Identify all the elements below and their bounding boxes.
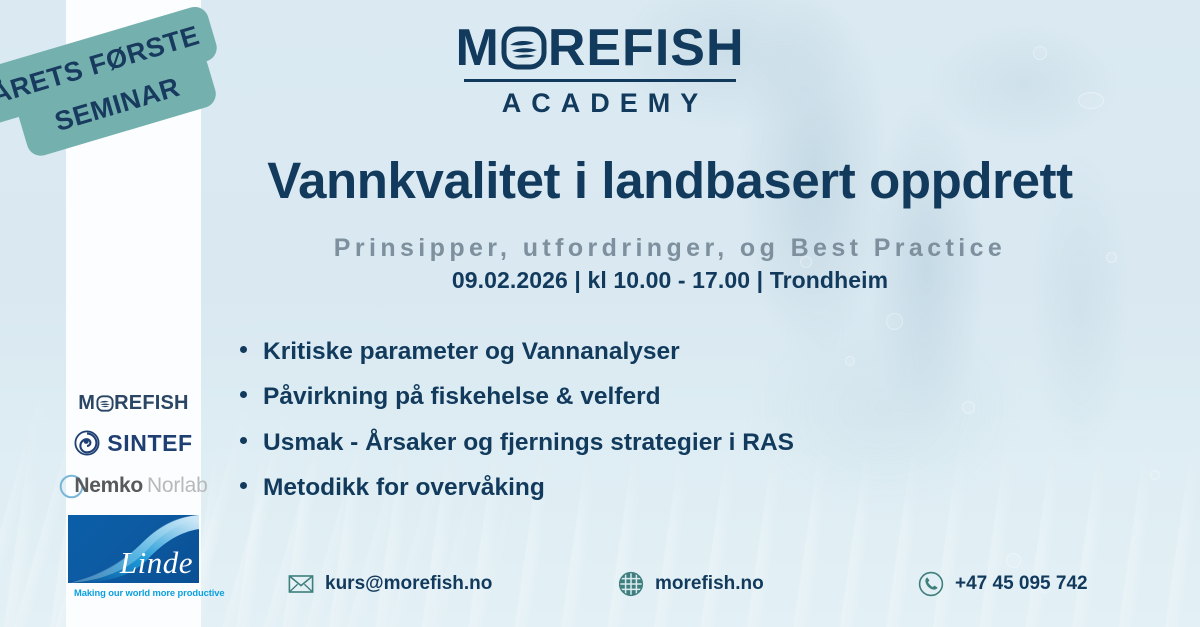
sintef-spiral-icon bbox=[74, 430, 100, 456]
sponsor-nemko-label: Nemko bbox=[74, 474, 143, 498]
list-item-label: Metodikk for overvåking bbox=[263, 474, 545, 501]
sponsor-norlab-label: Norlab bbox=[147, 474, 208, 498]
list-item-label: Kritiske parameter og Vannanalyser bbox=[263, 338, 680, 365]
contact-website-label: morefish.no bbox=[655, 573, 764, 595]
brand-logo: M REFISH ACADEMY bbox=[0, 22, 1200, 119]
list-item-label: Usmak - Årsaker og fjernings strategier … bbox=[263, 429, 794, 456]
list-item: Metodikk for overvåking bbox=[240, 474, 794, 501]
brand-subtitle: ACADEMY bbox=[492, 88, 709, 119]
list-item: Kritiske parameter og Vannanalyser bbox=[240, 338, 794, 365]
bubble-icon bbox=[845, 356, 855, 366]
contact-email-label: kurs@morefish.no bbox=[325, 573, 492, 595]
bullet-dot-icon bbox=[240, 437, 247, 444]
bubble-icon bbox=[886, 313, 903, 330]
list-item: Usmak - Årsaker og fjernings strategier … bbox=[240, 429, 794, 456]
sponsor-sintef-label: SINTEF bbox=[107, 430, 192, 457]
event-date-time-location: 09.02.2026 | kl 10.00 - 17.00 | Trondhei… bbox=[200, 267, 1140, 294]
contact-phone-label: +47 45 095 742 bbox=[955, 573, 1088, 595]
list-item-label: Påvirkning på fiskehelse & velferd bbox=[263, 383, 661, 410]
brand-name-part2: REFISH bbox=[548, 22, 745, 74]
brand-wordmark: M REFISH bbox=[455, 22, 744, 74]
contact-email[interactable]: kurs@morefish.no bbox=[288, 571, 492, 597]
sponsor-morefish-part2: REFISH bbox=[114, 392, 189, 415]
sponsor-logo-sintef: SINTEF bbox=[74, 426, 192, 460]
contact-phone[interactable]: +47 45 095 742 bbox=[918, 571, 1088, 597]
brand-name-part1: M bbox=[455, 22, 499, 74]
topics-list: Kritiske parameter og Vannanalyser Påvir… bbox=[240, 338, 794, 520]
sponsor-logo-nemko-norlab: Nemko Norlab bbox=[59, 469, 207, 503]
fish-in-o-icon bbox=[501, 23, 547, 73]
sponsor-morefish-part1: M bbox=[78, 392, 95, 415]
envelope-icon bbox=[288, 571, 314, 597]
bullet-dot-icon bbox=[240, 346, 247, 353]
page-subtitle: Prinsipper, utfordringer, og Best Practi… bbox=[200, 233, 1140, 263]
list-item: Påvirkning på fiskehelse & velferd bbox=[240, 383, 794, 410]
page-title: Vannkvalitet i landbasert oppdrett bbox=[200, 153, 1140, 208]
phone-icon bbox=[918, 571, 944, 597]
fish-in-o-icon bbox=[96, 394, 114, 413]
footer-contacts: kurs@morefish.no morefish.no bbox=[0, 571, 1200, 605]
sponsor-logos: M REFISH SINTEF bbox=[66, 388, 201, 601]
sponsor-logo-morefish: M REFISH bbox=[78, 388, 188, 418]
bullet-dot-icon bbox=[240, 391, 247, 398]
bullet-dot-icon bbox=[240, 482, 247, 489]
bubble-icon bbox=[962, 401, 975, 414]
bubble-icon bbox=[1006, 553, 1021, 568]
brand-divider bbox=[464, 79, 736, 82]
bubble-icon bbox=[1150, 470, 1160, 480]
seminar-poster: ÅRETS FØRSTE SEMINAR M REFISH ACADEMY Va… bbox=[0, 0, 1200, 627]
contact-website[interactable]: morefish.no bbox=[618, 571, 764, 597]
globe-icon bbox=[618, 571, 644, 597]
